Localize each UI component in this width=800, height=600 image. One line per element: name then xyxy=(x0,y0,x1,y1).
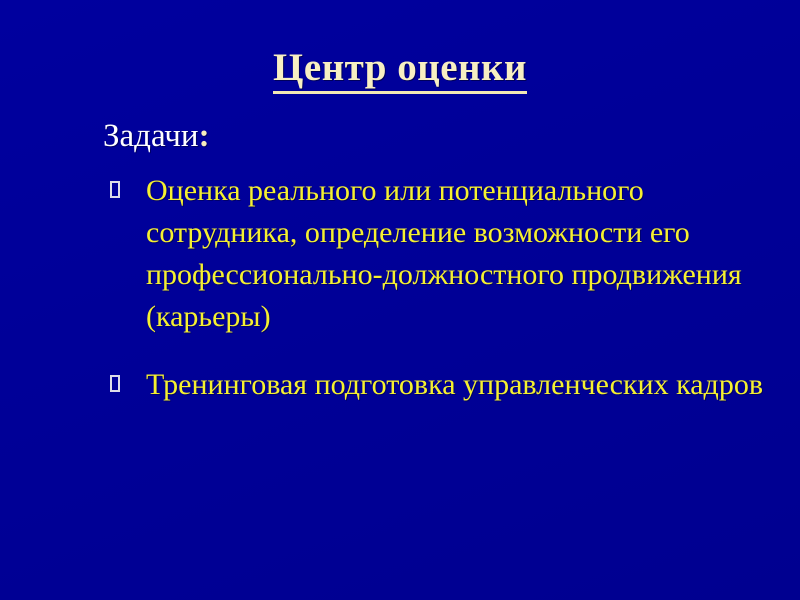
slide-canvas: Центр оценки Задачи: Оценка реального ил… xyxy=(0,0,800,600)
bullet-text: Оценка реального или потенциального сотр… xyxy=(146,174,742,333)
subhead-label: Задачи xyxy=(103,118,199,154)
list-item: Тренинговая подготовка управленческих ка… xyxy=(108,364,790,406)
subhead-colon: : xyxy=(199,118,210,154)
list-item: Оценка реального или потенциального сотр… xyxy=(108,170,790,338)
bullet-text: Тренинговая подготовка управленческих ка… xyxy=(146,368,763,401)
box-bullet-icon xyxy=(110,375,120,392)
box-bullet-icon xyxy=(110,181,120,198)
title-container: Центр оценки xyxy=(0,46,800,94)
slide-body: Задачи: Оценка реального или потенциальн… xyxy=(100,116,790,406)
page-title: Центр оценки xyxy=(273,46,527,94)
subhead: Задачи: xyxy=(103,116,790,156)
bullet-list: Оценка реального или потенциального сотр… xyxy=(100,170,790,406)
